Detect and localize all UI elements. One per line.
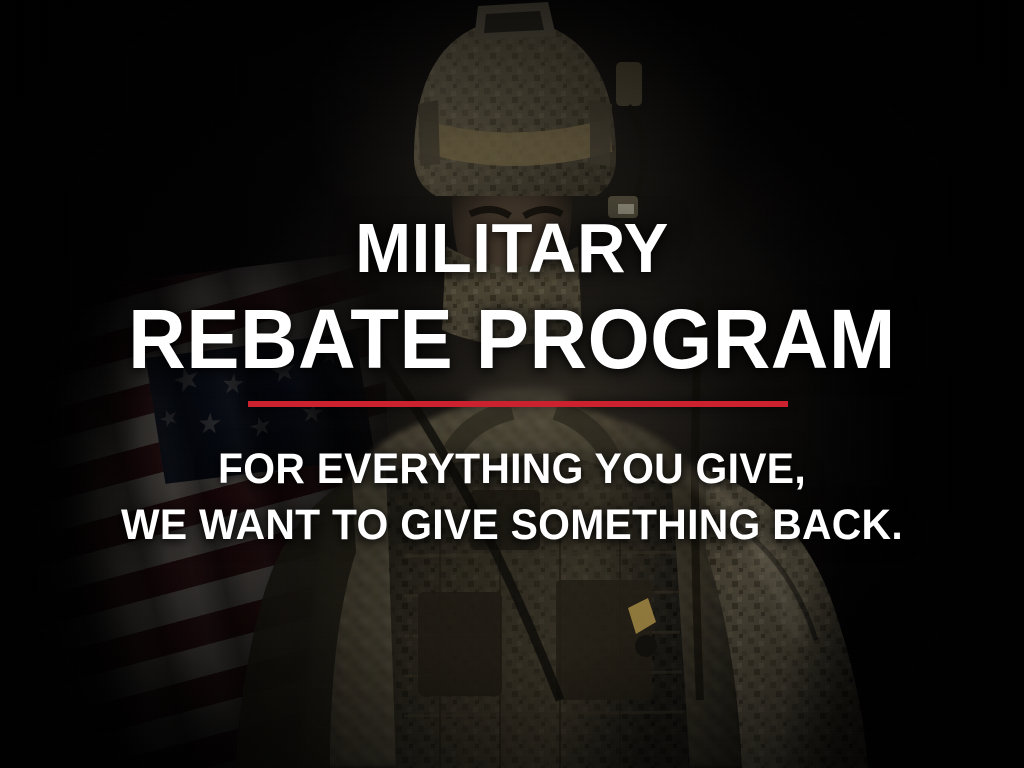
soldier-head	[442, 196, 582, 345]
combat-helmet	[414, 2, 644, 220]
background-photo	[0, 0, 1024, 768]
poster-canvas: MILITARY REBATE PROGRAM FOR EVERYTHING Y…	[0, 0, 1024, 768]
soldier-figure	[0, 0, 1024, 768]
